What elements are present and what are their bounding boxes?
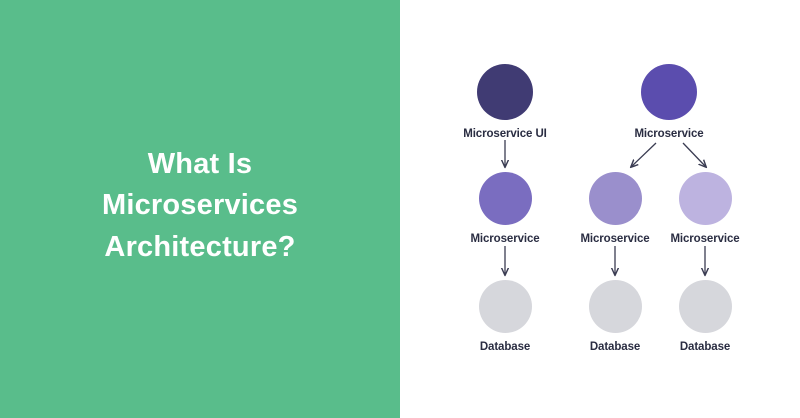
page-title: What Is Microservices Architecture? [50,144,350,274]
node-database-c[interactable]: Database [645,280,765,353]
node-label: Microservice UI [463,128,547,140]
connector-root-to-microservice-c [683,143,706,167]
database-c-circle-icon [679,280,732,333]
architecture-diagram: Microservice UI Microservice Microservic… [400,0,800,418]
microservice-b-circle-icon [589,172,642,225]
node-microservice-ui[interactable]: Microservice UI [445,64,565,140]
microservice-a-circle-icon [479,172,532,225]
page-title-line-1: What Is [148,148,253,180]
database-b-circle-icon [589,280,642,333]
node-label: Microservice [580,233,649,245]
connector-root-to-microservice-b [631,143,656,167]
node-database-a[interactable]: Database [445,280,565,353]
page-title-line-3: Architecture? [104,231,295,263]
microservice-c-circle-icon [679,172,732,225]
microservice-ui-circle-icon [477,64,533,120]
node-label: Database [680,341,730,353]
node-label: Database [590,341,640,353]
node-label: Microservice [470,233,539,245]
node-label: Database [480,341,530,353]
microservice-root-circle-icon [641,64,697,120]
diagram-panel: Microservice UI Microservice Microservic… [400,0,800,418]
node-label: Microservice [670,233,739,245]
database-a-circle-icon [479,280,532,333]
hero-panel: What Is Microservices Architecture? [0,0,400,418]
node-microservice-root[interactable]: Microservice [609,64,729,140]
page-title-line-2: Microservices [102,189,298,221]
node-label: Microservice [634,128,703,140]
slide-root: What Is Microservices Architecture? [0,0,800,418]
node-microservice-c[interactable]: Microservice [645,172,765,245]
node-microservice-a[interactable]: Microservice [445,172,565,245]
